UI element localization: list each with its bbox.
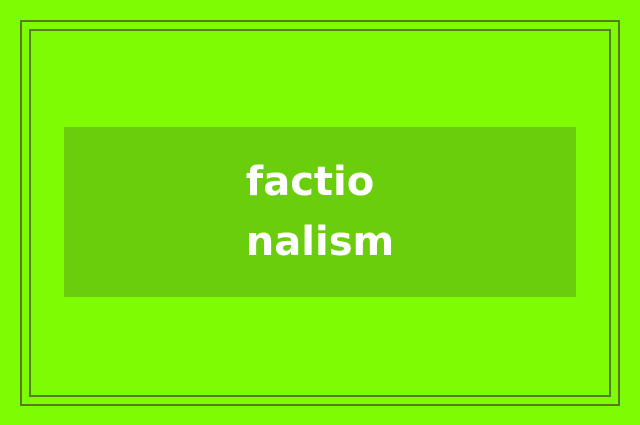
word-text-block: factio nalism bbox=[246, 152, 394, 272]
image-canvas: factio nalism bbox=[0, 0, 640, 425]
word-panel: factio nalism bbox=[64, 127, 576, 297]
word-line-1: factio bbox=[246, 152, 394, 212]
word-line-2: nalism bbox=[246, 212, 394, 272]
